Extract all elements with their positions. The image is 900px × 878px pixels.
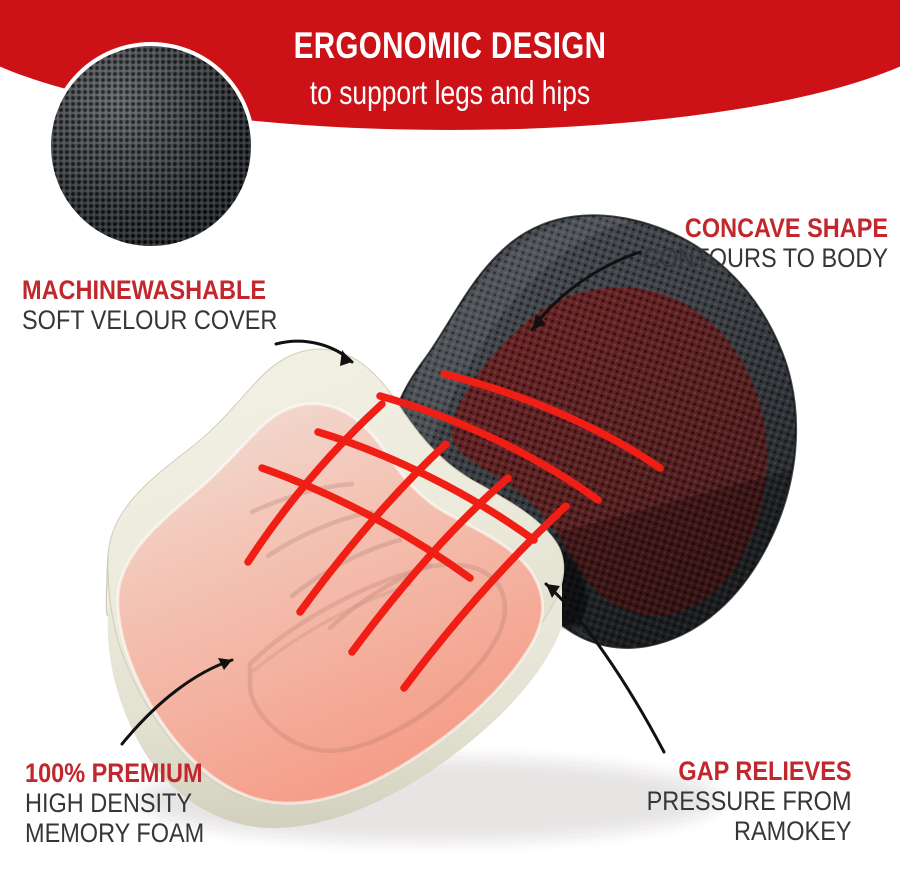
infographic-canvas: ERGONOMIC DESIGN to support legs and hip… — [0, 0, 900, 878]
callout-concave-shape: CONCAVE SHAPE CONTOURS TO BODY — [606, 215, 888, 273]
callout-subtitle-premium-foam-line-2: MEMORY FOAM — [25, 818, 204, 848]
callout-machine-washable: MACHINEWASHABLE SOFT VELOUR COVER — [22, 277, 316, 335]
callout-title-gap-relieves: GAP RELIEVES — [647, 758, 852, 786]
callout-gap-relieves: GAP RELIEVES PRESSURE FROM RAMOKEY — [616, 758, 852, 846]
callout-subtitle-gap-relieves-line-1: PRESSURE FROM — [647, 786, 852, 816]
callout-premium-foam: 100% PREMIUM HIGH DENSITY MEMORY FOAM — [25, 760, 231, 848]
callout-subtitle-gap-relieves-line-2: RAMOKEY — [647, 816, 852, 846]
callout-subtitle-concave-shape-line-1: CONTOURS TO BODY — [643, 243, 888, 273]
callout-title-premium-foam: 100% PREMIUM — [25, 760, 204, 788]
callout-title-machine-washable: MACHINEWASHABLE — [22, 277, 277, 305]
callout-subtitle-premium-foam-line-1: HIGH DENSITY — [25, 788, 204, 818]
callout-title-concave-shape: CONCAVE SHAPE — [643, 215, 888, 243]
fabric-swatch-circle — [47, 42, 255, 250]
swatch-shading — [51, 46, 251, 246]
callout-subtitle-machine-washable-line-1: SOFT VELOUR COVER — [22, 305, 277, 335]
